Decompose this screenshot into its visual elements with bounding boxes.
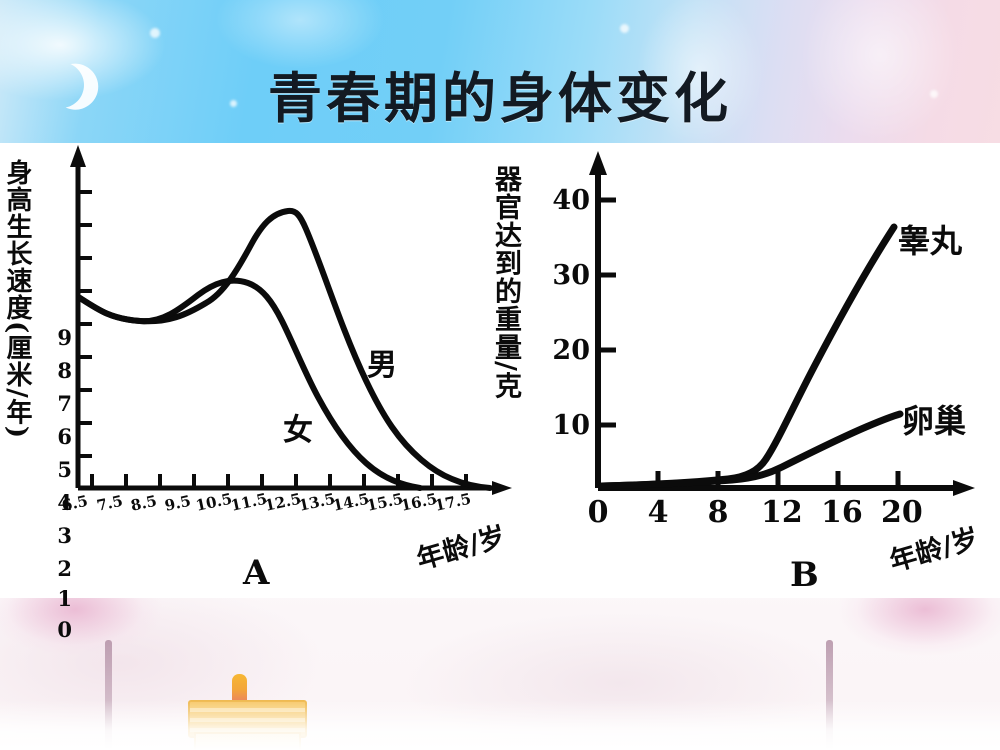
figure-a-ytick: 0	[50, 617, 72, 642]
star-icon	[230, 100, 237, 107]
figure-b-label-ovaries: 卵巢	[902, 396, 966, 442]
figure-b-label-testes: 睾丸	[898, 216, 962, 262]
figure-a-ytick: 5	[50, 457, 72, 482]
figure-b-xtick: 16	[821, 495, 855, 530]
figure-a-y-axis	[70, 145, 86, 488]
figure-b-y-axis-title: 器官达到的重量/克	[492, 165, 519, 495]
figure-b-ytick: 30	[544, 260, 590, 291]
sky-background	[0, 0, 1000, 143]
figure-a-letter: A	[243, 553, 269, 593]
figure-a-label-male: 男	[367, 340, 397, 384]
figure-a-ytick: 6	[50, 424, 72, 449]
figure-a: 9 8 7 6 5 4 3 2 1 0 6.5 7.5 8.5 9.5 10.5…	[0, 143, 530, 598]
moon-icon	[32, 56, 90, 114]
figure-a-ytick: 2	[50, 556, 72, 581]
star-icon	[620, 24, 629, 33]
figure-b-series-ovaries	[602, 414, 900, 486]
figure-b-ytick: 20	[544, 335, 590, 366]
figure-a-ytick: 1	[50, 586, 72, 611]
chart-canvas: 9 8 7 6 5 4 3 2 1 0 6.5 7.5 8.5 9.5 10.5…	[0, 143, 1000, 598]
figure-a-ytick: 7	[50, 391, 72, 416]
cherry-tree-icon	[820, 583, 1000, 703]
figure-b-xtick: 8	[701, 495, 735, 530]
figure-b: 40 30 20 10 0 4 8 12 16 20 睾丸 卵巢 器官达到的重量…	[470, 143, 1000, 598]
figure-b-xtick: 20	[881, 495, 915, 530]
figure-a-ytick: 8	[50, 358, 72, 383]
figure-b-letter: B	[790, 555, 819, 595]
figure-b-xtick: 12	[761, 495, 795, 530]
figure-a-ytick: 3	[50, 523, 72, 548]
figure-b-ytick: 10	[544, 410, 590, 441]
ground-haze	[0, 700, 1000, 750]
slide-root: 青春期的身体变化	[0, 0, 1000, 750]
figure-a-ytick: 9	[50, 325, 72, 350]
figure-a-y-axis-title: 身高生长速度(厘米/年)	[4, 159, 30, 559]
cherry-tree-icon	[0, 583, 180, 703]
figure-a-label-female: 女	[283, 405, 313, 449]
figure-b-xtick: 4	[641, 495, 675, 530]
star-icon	[930, 90, 938, 98]
figure-b-xtick: 0	[581, 495, 615, 530]
star-icon	[150, 28, 160, 38]
figure-b-ytick: 40	[544, 185, 590, 216]
figure-b-series-testes	[602, 227, 894, 486]
